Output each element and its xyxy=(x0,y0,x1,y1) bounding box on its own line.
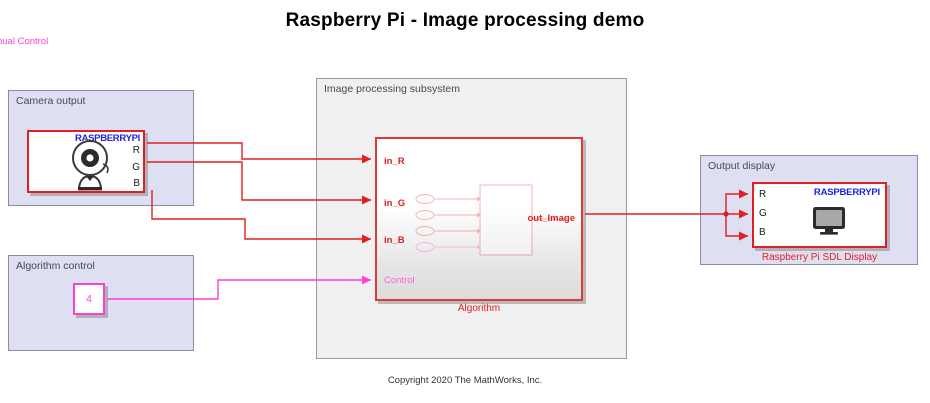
algorithm-inport-r: in_R xyxy=(384,156,405,167)
manual-control-value: 4 xyxy=(75,285,103,313)
copyright-text: Copyright 2020 The MathWorks, Inc. xyxy=(0,375,930,386)
manual-control-label: Manual Control xyxy=(0,36,54,47)
algorithm-block-label: Algorithm xyxy=(375,303,583,314)
raspberrypi-brand-label-display: RASPBERRYPI xyxy=(814,187,880,198)
model-canvas: Raspberry Pi - Image processing demo Cam… xyxy=(0,0,930,403)
sdl-port-r: R xyxy=(759,189,766,200)
webcam-icon xyxy=(67,138,113,192)
camera-port-g: G xyxy=(132,162,140,173)
camera-source-block[interactable]: RASPBERRYPI R G B xyxy=(27,130,145,193)
algorithm-subsystem-block[interactable]: in_R in_G in_B Control out_Image xyxy=(375,137,583,301)
area-subsystem-label: Image processing subsystem xyxy=(324,83,460,95)
algorithm-inport-b: in_B xyxy=(384,235,405,246)
camera-port-r: R xyxy=(133,145,140,156)
algorithm-outport-image: out_Image xyxy=(527,213,575,224)
sdl-port-g: G xyxy=(759,208,767,219)
monitor-icon xyxy=(812,206,846,236)
manual-control-block[interactable]: 4 xyxy=(73,283,105,315)
area-algorithm-control-label: Algorithm control xyxy=(16,260,95,272)
algorithm-inport-g: in_G xyxy=(384,198,405,209)
area-output-display-label: Output display xyxy=(708,160,775,172)
sdl-display-label: Raspberry Pi SDL Display xyxy=(712,252,927,263)
algorithm-control-port: Control xyxy=(384,275,415,286)
camera-port-b: B xyxy=(133,178,140,189)
sdl-port-b: B xyxy=(759,227,766,238)
page-title: Raspberry Pi - Image processing demo xyxy=(0,10,930,32)
sdl-display-block[interactable]: RASPBERRYPI R G B xyxy=(752,182,887,248)
area-camera-output-label: Camera output xyxy=(16,95,85,107)
